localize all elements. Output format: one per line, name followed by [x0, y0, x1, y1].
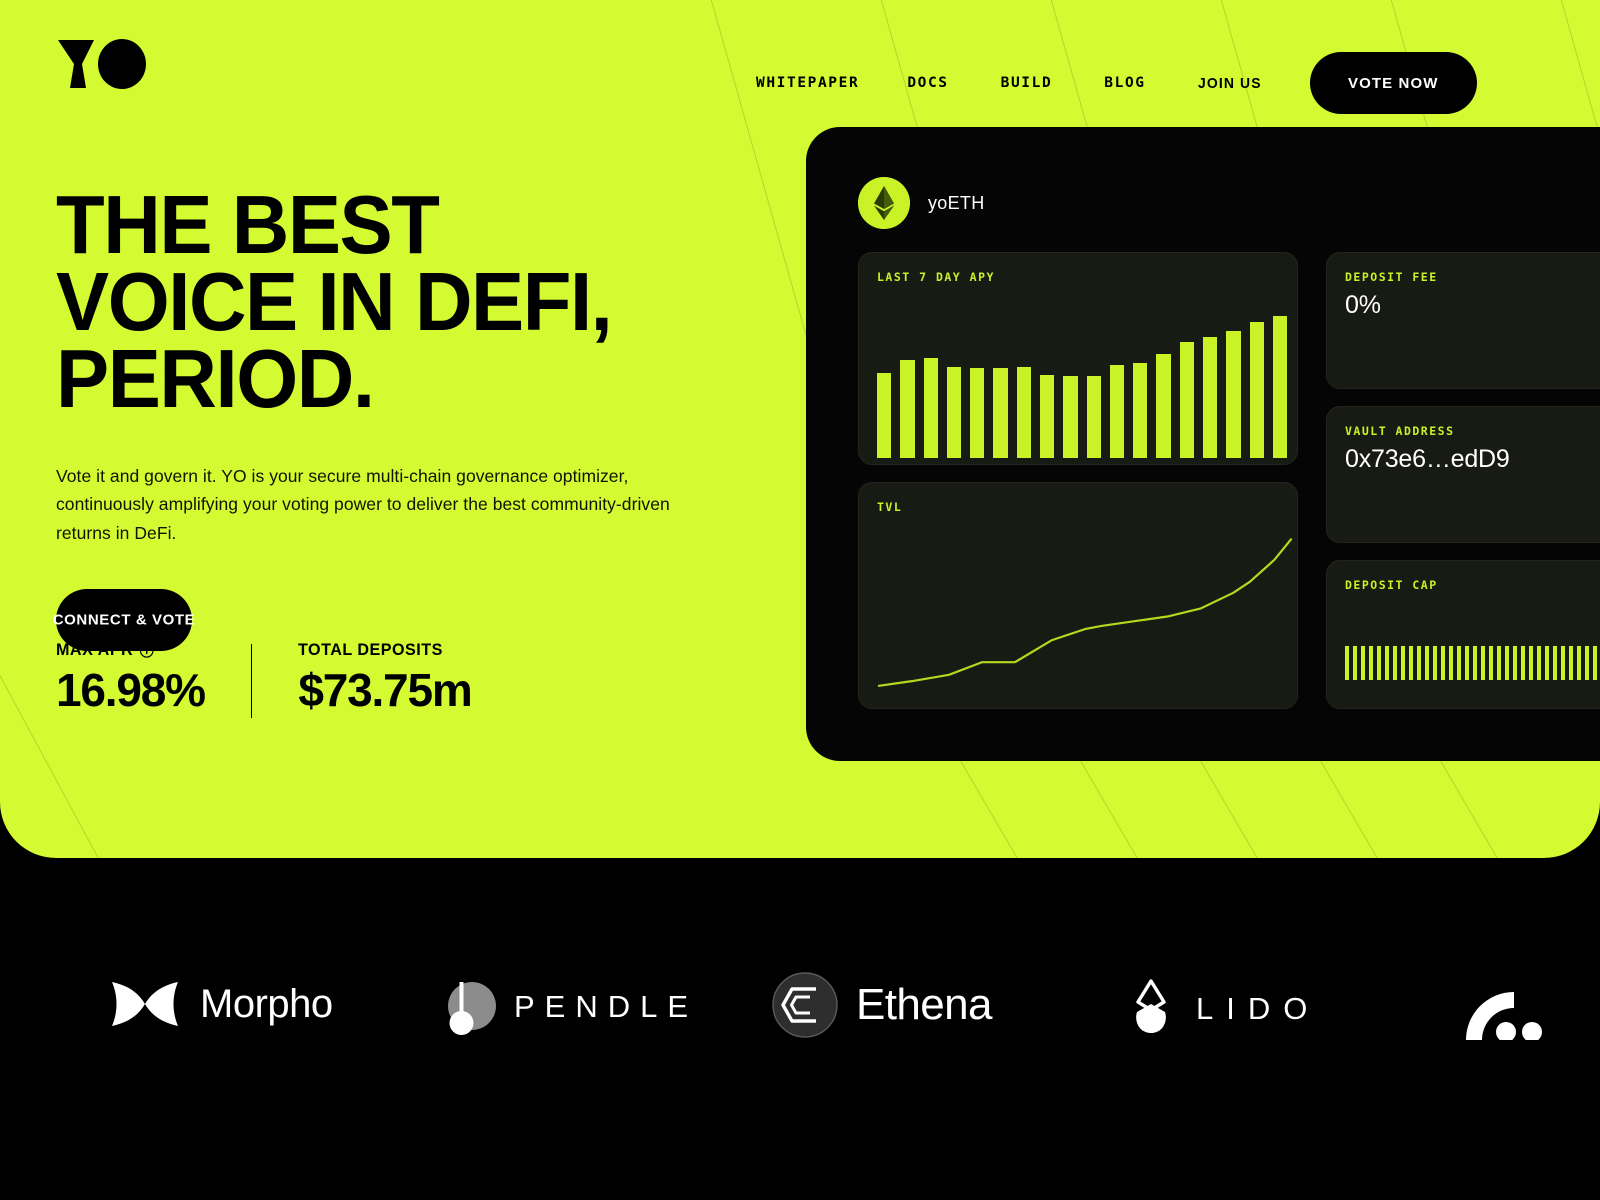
nav-link-join-us[interactable]: JOIN US [1198, 69, 1262, 98]
card-vault-address-label: VAULT ADDRESS [1345, 424, 1455, 438]
nav-link-blog[interactable]: BLOG [1104, 69, 1145, 97]
nav-link-build[interactable]: BUILD [1001, 69, 1053, 97]
partner-pendle-label: PENDLE [514, 989, 698, 1025]
pendle-icon [440, 978, 496, 1036]
deposit-cap-tick [1569, 646, 1573, 680]
stat-total-deposits-value: $73.75m [298, 666, 471, 716]
connect-and-vote-label: CONNECT & VOTE [53, 612, 196, 629]
card-deposit-fee: DEPOSIT FEE 0% [1326, 252, 1600, 389]
card-deposit-cap-label: DEPOSIT CAP [1345, 578, 1438, 592]
deposit-cap-tick [1561, 646, 1565, 680]
nav-link-whitepaper[interactable]: WHITEPAPER [756, 69, 859, 97]
card-deposit-fee-label: DEPOSIT FEE [1345, 270, 1438, 284]
info-icon[interactable] [140, 643, 154, 658]
page-title: THE BEST VOICE IN DEFI, PERIOD. [56, 186, 728, 418]
deposit-cap-tick [1449, 646, 1453, 680]
deposit-cap-tick [1361, 646, 1365, 680]
deposit-cap-tick [1545, 646, 1549, 680]
apy-bar [1133, 363, 1147, 458]
partner-lido[interactable]: LIDO [1124, 978, 1320, 1040]
deposit-cap-tick [1593, 646, 1597, 680]
card-deposit-fee-value: 0% [1345, 291, 1381, 320]
apy-bar [1017, 367, 1031, 458]
stat-max-apr-value: 16.98% [56, 666, 205, 716]
stats-divider [251, 644, 253, 718]
yo-logo-icon[interactable] [56, 38, 148, 90]
deposit-cap-tick [1537, 646, 1541, 680]
stat-max-apr-label-row: MAX APR [56, 640, 197, 660]
deposit-cap-tick [1425, 646, 1429, 680]
deposit-cap-tick [1353, 646, 1357, 680]
lido-icon [1124, 978, 1178, 1040]
token-symbol: yoETH [928, 193, 985, 214]
deposit-cap-tick [1433, 646, 1437, 680]
card-vault-address-value[interactable]: 0x73e6…edD9 [1345, 445, 1510, 474]
partner-pendle[interactable]: PENDLE [440, 978, 698, 1036]
vote-now-button[interactable]: VOTE NOW [1310, 52, 1476, 114]
deposit-cap-tick [1393, 646, 1397, 680]
stat-total-deposits: TOTAL DEPOSITS $73.75m [298, 640, 471, 716]
top-navigation: WHITEPAPER DOCS BUILD BLOG JOIN US VOTE … [0, 0, 1600, 128]
deposit-cap-tick [1585, 646, 1589, 680]
deposit-cap-tick [1457, 646, 1461, 680]
deposit-cap-tick [1473, 646, 1477, 680]
apy-bar-chart [877, 308, 1287, 458]
apy-bar [1273, 316, 1287, 458]
apy-bar [1156, 354, 1170, 458]
apy-bar [1110, 365, 1124, 458]
apy-bar [1040, 375, 1054, 458]
apy-bar [970, 368, 984, 458]
partner-lido-label: LIDO [1196, 991, 1320, 1027]
apy-bar [924, 358, 938, 458]
deposit-cap-tick [1385, 646, 1389, 680]
hero-content: THE BEST VOICE IN DEFI, PERIOD. Vote it … [56, 186, 756, 656]
deposit-cap-tick [1553, 646, 1557, 680]
deposit-cap-tick [1513, 646, 1517, 680]
apy-bar [1203, 337, 1217, 458]
apy-bar [1063, 376, 1077, 458]
deposit-cap-tick [1489, 646, 1493, 680]
hero-subcopy: Vote it and govern it. YO is your secure… [56, 462, 681, 548]
apy-bar [947, 367, 961, 458]
partner-arc-dots[interactable] [1456, 980, 1600, 1040]
stat-max-apr: MAX APR 16.98% [56, 640, 205, 716]
ethereum-icon [858, 177, 910, 229]
token-header: yoETH [858, 177, 985, 229]
apy-bar [993, 368, 1007, 458]
deposit-cap-tick [1409, 646, 1413, 680]
tvl-line-chart [859, 483, 1297, 708]
morpho-icon [108, 976, 182, 1032]
card-tvl: TVL [858, 482, 1298, 709]
landing-page: WHITEPAPER DOCS BUILD BLOG JOIN US VOTE … [0, 0, 1600, 1200]
deposit-cap-tick [1369, 646, 1373, 680]
apy-bar [1180, 342, 1194, 458]
deposit-cap-tick [1505, 646, 1509, 680]
apy-bar [1087, 376, 1101, 458]
stat-total-deposits-label: TOTAL DEPOSITS [298, 640, 443, 660]
partner-logos: Morpho PENDLE Ethena LIDO [0, 940, 1600, 1100]
deposit-cap-tick [1377, 646, 1381, 680]
apy-bar [1250, 322, 1264, 458]
hero-stats: MAX APR 16.98% TOTAL DEPOSITS $73.75m [56, 640, 472, 718]
deposit-cap-tick [1441, 646, 1445, 680]
deposit-cap-tick [1521, 646, 1525, 680]
deposit-cap-tick [1401, 646, 1405, 680]
card-deposit-cap: DEPOSIT CAP [1326, 560, 1600, 709]
deposit-cap-progress [1345, 646, 1600, 680]
deposit-cap-tick [1577, 646, 1581, 680]
partner-morpho-label: Morpho [200, 982, 333, 1027]
partner-ethena-label: Ethena [856, 980, 992, 1030]
ethena-icon [772, 972, 838, 1038]
deposit-cap-tick [1345, 646, 1349, 680]
card-apy-label: LAST 7 DAY APY [877, 270, 995, 284]
arc-dots-icon [1456, 980, 1596, 1040]
nav-links: WHITEPAPER DOCS BUILD BLOG JOIN US VOTE … [756, 52, 1477, 114]
partner-ethena[interactable]: Ethena [772, 972, 992, 1038]
apy-bar [900, 360, 914, 458]
deposit-cap-tick [1529, 646, 1533, 680]
deposit-cap-tick [1417, 646, 1421, 680]
deposit-cap-tick [1465, 646, 1469, 680]
stat-total-deposits-label-row: TOTAL DEPOSITS [298, 640, 463, 660]
stat-max-apr-label: MAX APR [56, 640, 133, 660]
vault-dashboard-card: yoETH LAST 7 DAY APY TVL DEPOSIT FEE 0% … [806, 127, 1600, 761]
deposit-cap-tick [1481, 646, 1485, 680]
partner-morpho[interactable]: Morpho [108, 976, 333, 1032]
deposit-cap-tick [1497, 646, 1501, 680]
apy-bar [877, 373, 891, 458]
card-vault-address: VAULT ADDRESS 0x73e6…edD9 [1326, 406, 1600, 543]
apy-bar [1226, 331, 1240, 458]
nav-link-docs[interactable]: DOCS [907, 69, 948, 97]
card-last-7-day-apy: LAST 7 DAY APY [858, 252, 1298, 465]
